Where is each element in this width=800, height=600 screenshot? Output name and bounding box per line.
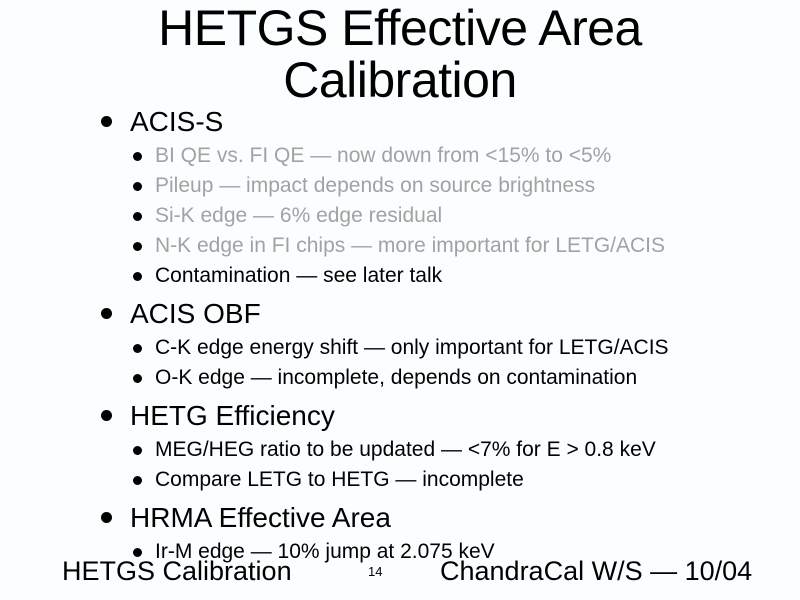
bullet-icon — [101, 410, 112, 421]
bullet-icon — [133, 476, 142, 485]
outline-item-label: Si-K edge — 6% edge residual — [155, 203, 442, 229]
outline-item-label: HRMA Effective Area — [130, 502, 391, 533]
page-number: 14 — [368, 562, 382, 582]
outline-item-label: Contamination — see later talk — [155, 263, 442, 289]
bullet-icon — [133, 242, 142, 251]
bullet-icon — [133, 446, 142, 455]
outline-list: ACIS-S BI QE vs. FI QE — now down from <… — [0, 106, 800, 569]
outline-item-label: ACIS-S — [130, 106, 223, 137]
outline-item-level2[interactable]: MEG/HEG ratio to be updated — <7% for E … — [0, 437, 800, 467]
outline-item-level2[interactable]: Compare LETG to HETG — incomplete — [0, 467, 800, 497]
bullet-icon — [133, 344, 142, 353]
outline-item-label: C-K edge energy shift — only important f… — [155, 335, 669, 361]
outline-item-label: N-K edge in FI chips — more important fo… — [155, 233, 665, 259]
bullet-icon — [133, 182, 142, 191]
outline-item-level2[interactable]: N-K edge in FI chips — more important fo… — [0, 233, 800, 263]
outline-item-label: Compare LETG to HETG — incomplete — [155, 467, 524, 493]
bullet-icon — [101, 308, 112, 319]
footer-right-text: ChandraCal W/S — 10/04 — [440, 554, 752, 588]
page-title: HETGS Effective Area Calibration — [0, 2, 800, 106]
bullet-icon — [133, 374, 142, 383]
bullet-icon — [101, 512, 112, 523]
outline-item-level1[interactable]: HETG Efficiency — [0, 400, 800, 437]
outline-item-label: ACIS OBF — [130, 298, 261, 329]
outline-item-level1[interactable]: ACIS OBF — [0, 298, 800, 335]
outline-item-level2[interactable]: BI QE vs. FI QE — now down from <15% to … — [0, 143, 800, 173]
outline-item-level2[interactable]: Pileup — impact depends on source bright… — [0, 173, 800, 203]
outline-item-label: O-K edge — incomplete, depends on contam… — [155, 365, 637, 391]
footer-left-text: HETGS Calibration — [62, 554, 292, 588]
outline-item-label: MEG/HEG ratio to be updated — <7% for E … — [155, 437, 656, 463]
bullet-icon — [101, 116, 112, 127]
bullet-icon — [133, 212, 142, 221]
outline-item-level2[interactable]: C-K edge energy shift — only important f… — [0, 335, 800, 365]
slide-footer: HETGS Calibration 14 ChandraCal W/S — 10… — [0, 554, 800, 594]
outline-item-level2[interactable]: O-K edge — incomplete, depends on contam… — [0, 365, 800, 395]
outline-item-level1[interactable]: ACIS-S — [0, 106, 800, 143]
outline-item-level1[interactable]: HRMA Effective Area — [0, 502, 800, 539]
outline-item-label: Pileup — impact depends on source bright… — [155, 173, 595, 199]
outline-item-level2[interactable]: Si-K edge — 6% edge residual — [0, 203, 800, 233]
outline-item-level2[interactable]: Contamination — see later talk — [0, 263, 800, 293]
bullet-icon — [133, 272, 142, 281]
bullet-icon — [133, 152, 142, 161]
slide-canvas: HETGS Effective Area Calibration ACIS-S … — [0, 0, 800, 600]
outline-item-label: HETG Efficiency — [130, 400, 335, 431]
outline-item-label: BI QE vs. FI QE — now down from <15% to … — [155, 143, 611, 169]
